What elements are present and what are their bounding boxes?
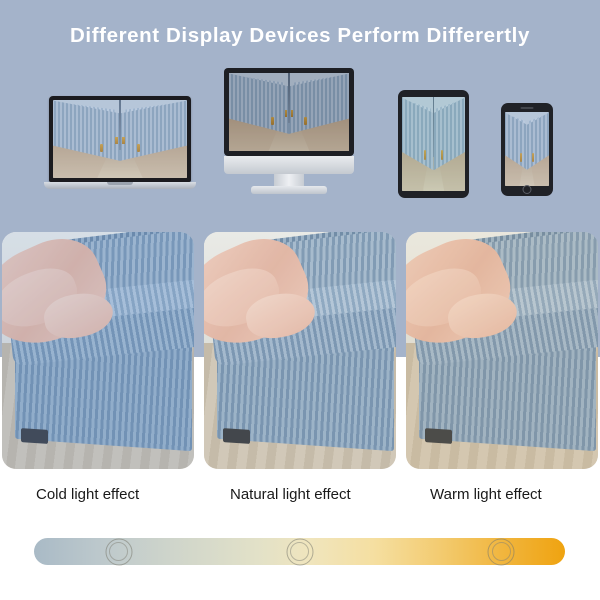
slider-handle-warm[interactable] [488,538,515,565]
page-title: Different Display Devices Perform Differ… [0,24,600,48]
photo-color-temperature-overlay [406,232,598,469]
screen-tint-overlay [505,112,549,186]
device-phone [501,103,553,196]
phone-home-button[interactable] [523,185,532,194]
label-warm-light-effect: Warm light effect [430,486,542,503]
monitor-screen [229,73,349,151]
sofa-corridor-scene [53,100,187,178]
device-monitor [224,68,354,198]
product-infographic: Different Display Devices Perform Differ… [0,0,600,600]
sofa-corridor-scene [505,112,549,186]
monitor-chin [224,156,354,174]
phone-speaker [521,107,534,109]
sofa-corridor-scene [229,73,349,151]
comparison-photo-natural [204,232,396,469]
tablet-body [398,90,469,198]
laptop-lid [49,96,191,182]
color-temperature-slider[interactable] [34,538,565,565]
laptop-screen [53,100,187,178]
screen-tint-overlay [402,97,465,191]
label-cold-light-effect: Cold light effect [36,486,139,503]
sofa-corridor-scene [402,97,465,191]
monitor-bezel [224,68,354,156]
label-natural-light-effect: Natural light effect [230,486,351,503]
phone-body [501,103,553,196]
slider-handle-cold[interactable] [105,538,132,565]
comparison-label-row: Cold light effect Natural light effect W… [0,486,600,510]
comparison-photo-cold [2,232,194,469]
phone-screen [505,112,549,186]
slider-handle-natural[interactable] [286,538,313,565]
photo-content [204,232,396,469]
photo-content [406,232,598,469]
device-tablet [398,90,469,198]
photo-content [2,232,194,469]
laptop-notch [107,182,133,185]
screen-tint-overlay [229,73,349,151]
tablet-screen [402,97,465,191]
comparison-photo-warm [406,232,598,469]
photo-color-temperature-overlay [2,232,194,469]
screen-tint-overlay [53,100,187,178]
monitor-stand-foot [251,186,327,194]
comparison-photo-row [0,232,600,469]
photo-color-temperature-overlay [204,232,396,469]
device-laptop [44,96,196,194]
